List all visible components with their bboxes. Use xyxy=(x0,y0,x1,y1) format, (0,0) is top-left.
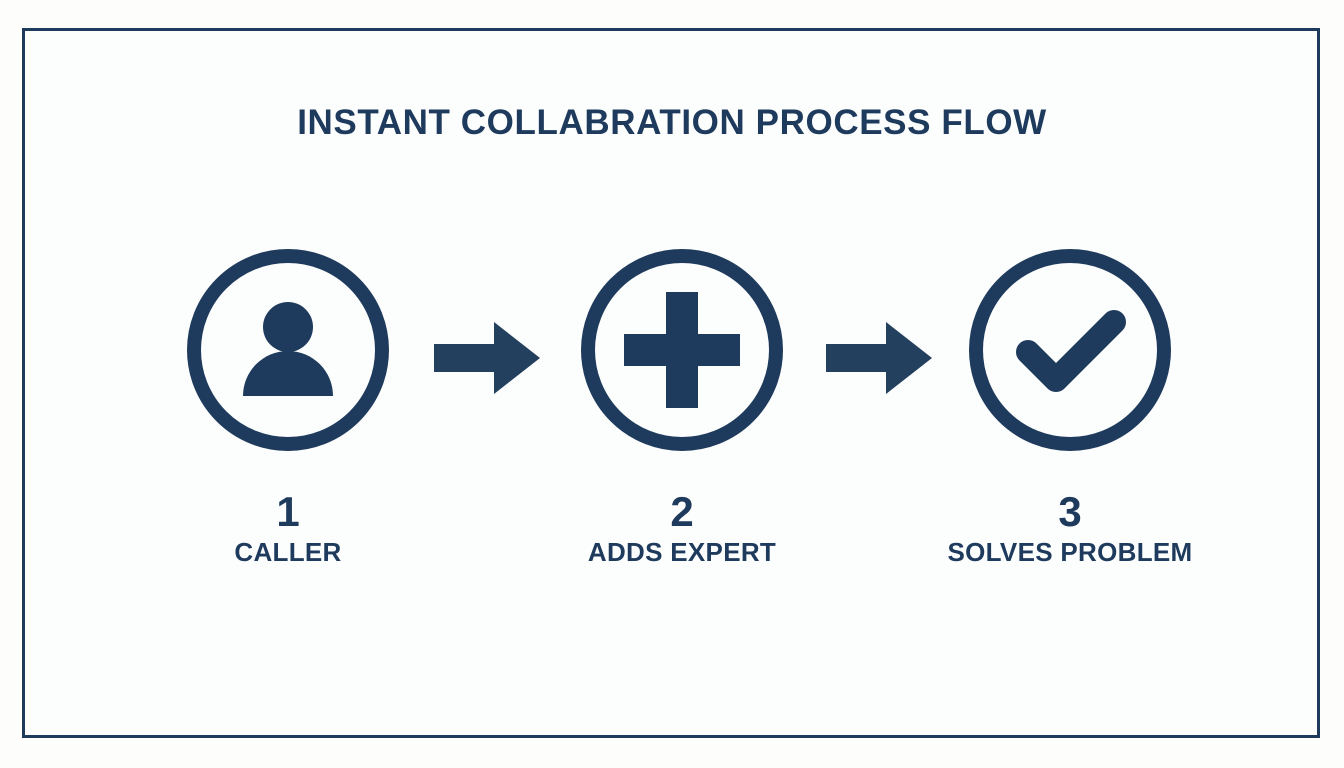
check-icon xyxy=(968,248,1172,452)
step-3-number: 3 xyxy=(968,491,1172,533)
connector-arrow-1 xyxy=(434,318,540,398)
step-1-label: CALLER xyxy=(126,539,450,565)
step-2-icon-ring xyxy=(580,248,784,452)
process-step-1[interactable]: 1 CALLER xyxy=(186,248,390,578)
plus-icon xyxy=(580,248,784,452)
process-flow-row: 1 CALLER 2 ADDS EXPERT xyxy=(0,0,1344,768)
step-1-icon-ring xyxy=(186,248,390,452)
connector-arrow-2 xyxy=(826,318,932,398)
step-2-number: 2 xyxy=(580,491,784,533)
process-step-3[interactable]: 3 SOLVES PROBLEM xyxy=(968,248,1172,578)
step-3-icon-ring xyxy=(968,248,1172,452)
arrow-right-icon xyxy=(434,318,540,398)
step-2-label: ADDS EXPERT xyxy=(520,539,844,565)
person-icon xyxy=(186,248,390,452)
infographic-canvas: INSTANT COLLABRATION PROCESS FLOW 1 CALL… xyxy=(0,0,1344,768)
step-1-number: 1 xyxy=(186,491,390,533)
process-step-2[interactable]: 2 ADDS EXPERT xyxy=(580,248,784,578)
arrow-right-icon xyxy=(826,318,932,398)
step-3-label: SOLVES PROBLEM xyxy=(908,539,1232,565)
